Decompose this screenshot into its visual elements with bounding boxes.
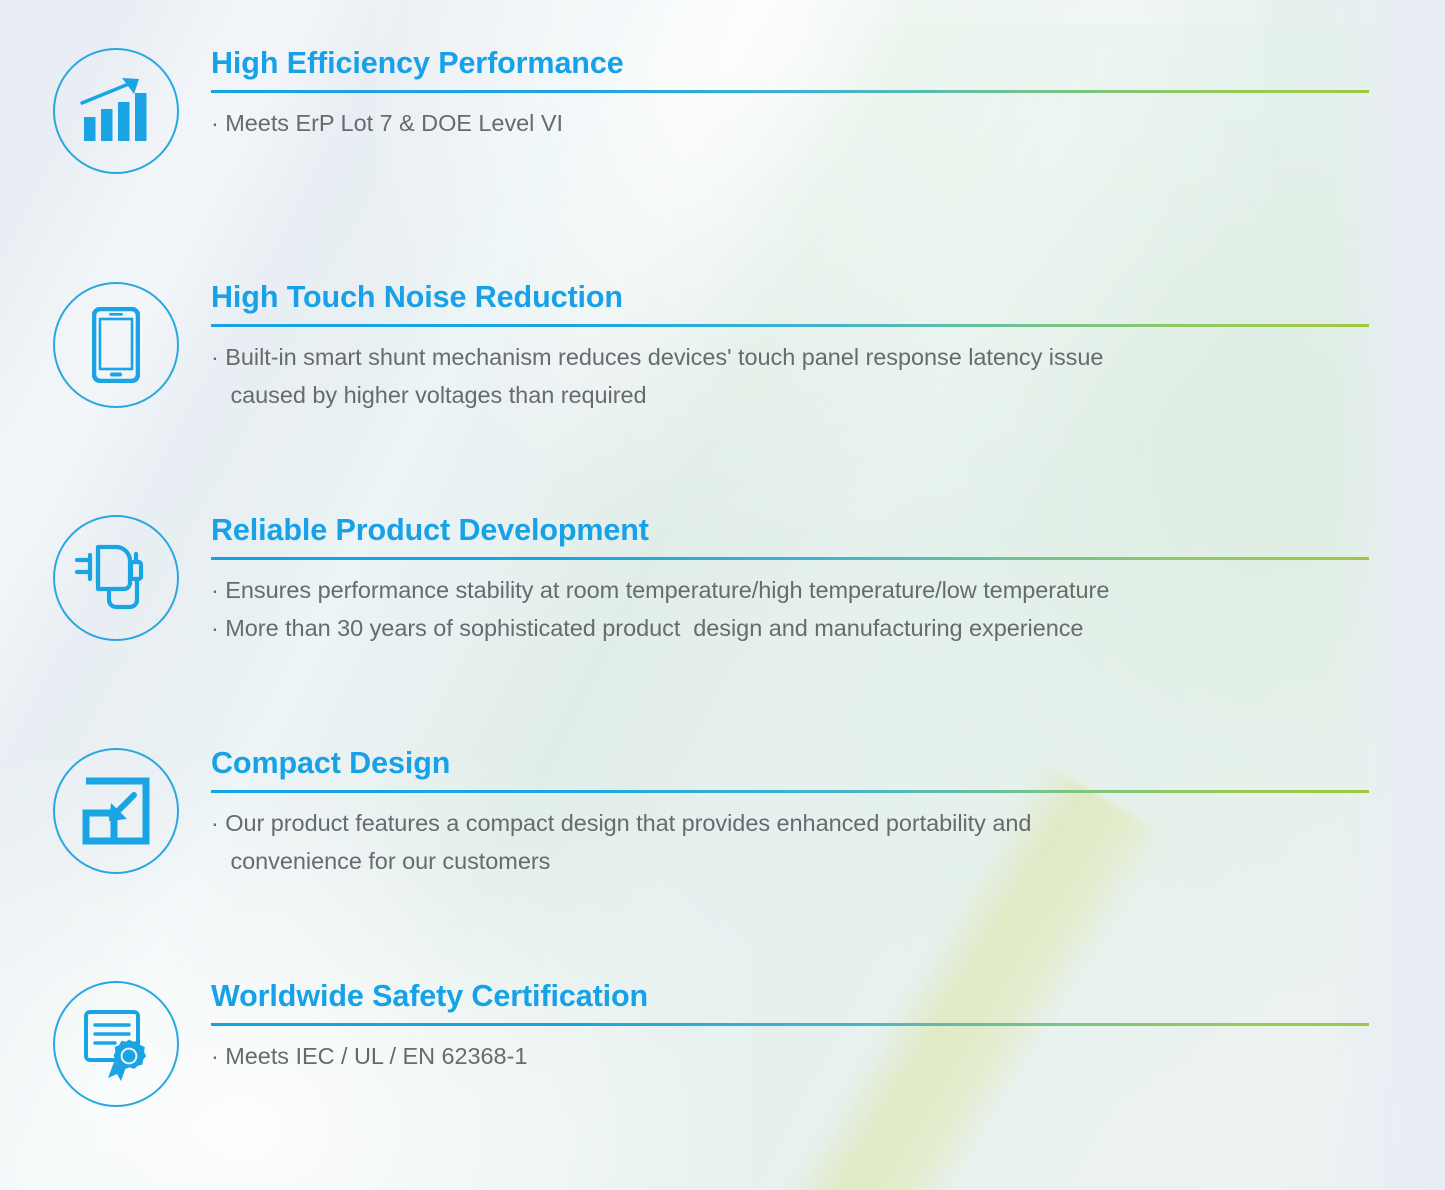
bar-chart-growth-icon (53, 48, 179, 174)
smartphone-icon (53, 282, 179, 408)
feature-body: Worldwide Safety Certification · Meets I… (211, 981, 1369, 1075)
feature-title: High Touch Noise Reduction (211, 282, 1369, 313)
feature-body: High Efficiency Performance · Meets ErP … (211, 48, 1369, 142)
feature-icon-wrapper (53, 282, 179, 408)
feature-bullet: · Ensures performance stability at room … (211, 571, 1369, 609)
feature-bullets: · Our product features a compact design … (211, 804, 1369, 880)
feature-bullets: · Meets IEC / UL / EN 62368-1 (211, 1037, 1369, 1075)
feature-title: High Efficiency Performance (211, 48, 1369, 79)
feature-bullet: · Our product features a compact design … (211, 804, 1369, 880)
feature-bullets: · Meets ErP Lot 7 & DOE Level VI (211, 104, 1369, 142)
feature-title: Worldwide Safety Certification (211, 981, 1369, 1012)
feature-body: Compact Design · Our product features a … (211, 748, 1369, 880)
feature-divider (211, 1023, 1369, 1026)
feature-divider (211, 790, 1369, 793)
feature-divider (211, 557, 1369, 560)
feature-body: Reliable Product Development · Ensures p… (211, 515, 1369, 647)
feature-divider (211, 90, 1369, 93)
feature-title: Compact Design (211, 748, 1369, 779)
feature-bullet: · More than 30 years of sophisticated pr… (211, 609, 1369, 647)
compact-resize-icon (53, 748, 179, 874)
feature-bullet: · Meets IEC / UL / EN 62368-1 (211, 1037, 1369, 1075)
certificate-award-icon (53, 981, 179, 1107)
feature-icon-wrapper (53, 981, 179, 1107)
feature-bullet: · Built-in smart shunt mechanism reduces… (211, 338, 1369, 414)
feature-icon-wrapper (53, 748, 179, 874)
feature-bullets: · Built-in smart shunt mechanism reduces… (211, 338, 1369, 414)
feature-body: High Touch Noise Reduction · Built-in sm… (211, 282, 1369, 414)
feature-list-page: High Efficiency Performance · Meets ErP … (0, 0, 1445, 1190)
power-adapter-icon (53, 515, 179, 641)
feature-icon-wrapper (53, 515, 179, 641)
feature-icon-wrapper (53, 48, 179, 174)
feature-divider (211, 324, 1369, 327)
feature-title: Reliable Product Development (211, 515, 1369, 546)
feature-bullet: · Meets ErP Lot 7 & DOE Level VI (211, 104, 1369, 142)
feature-bullets: · Ensures performance stability at room … (211, 571, 1369, 647)
